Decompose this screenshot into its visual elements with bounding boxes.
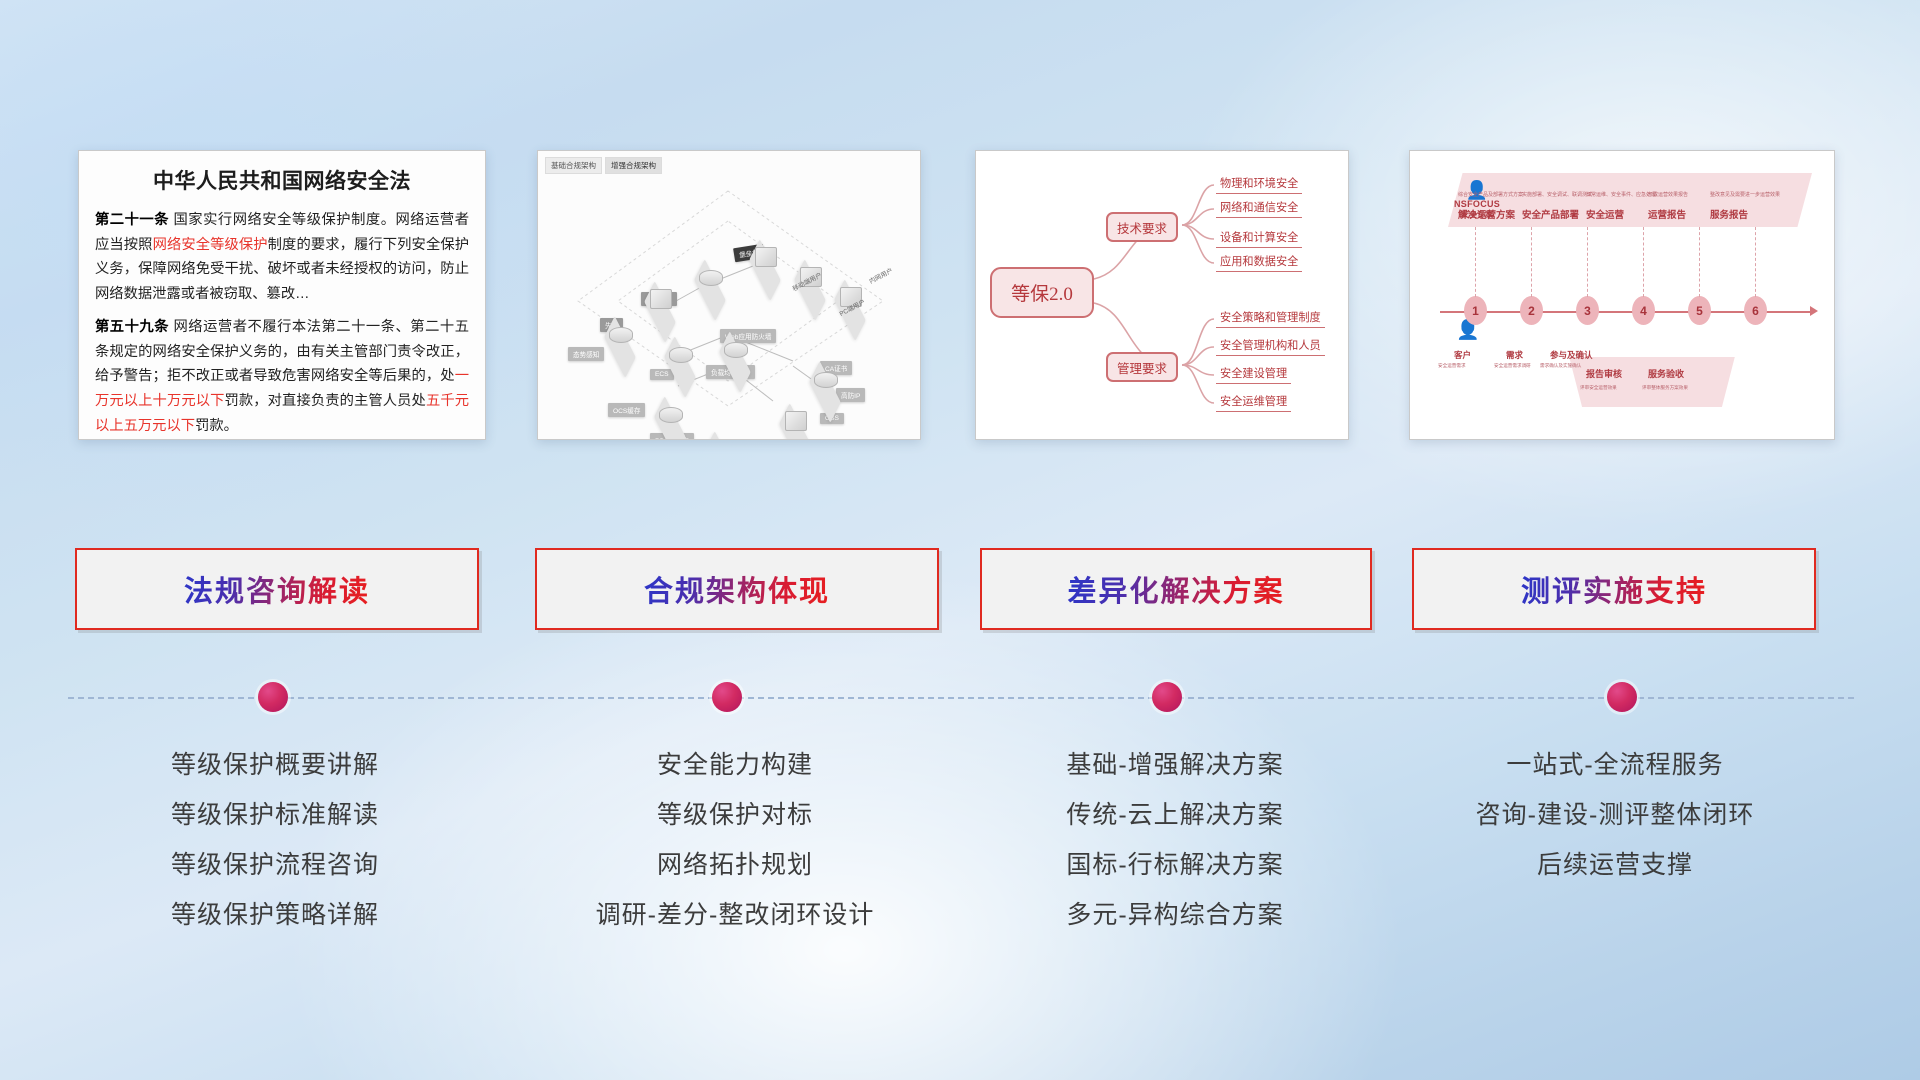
thumbnail-row: 中华人民共和国网络安全法 第二十一条 国家实行网络安全等级保护制度。网络运营者应… xyxy=(0,0,1920,450)
pillar-items-3: 一站式-全流程服务咨询-建设-测评整体闭环后续运营支撑 xyxy=(1400,740,1830,890)
architecture-chip: OCS缓存 xyxy=(608,403,645,417)
pillar-list-2: 基础-增强解决方案传统-云上解决方案国标-行标解决方案多元-异构综合方案 xyxy=(960,740,1390,940)
article-21-highlight: 网络安全等级保护 xyxy=(153,237,268,253)
pillar-heading-2[interactable]: 差异化解决方案 xyxy=(980,548,1372,630)
architecture-node-icon xyxy=(743,259,787,281)
timeline-top-sub: 日常运维、安全事件、应急处理 xyxy=(1586,191,1656,198)
mindmap-branch-node[interactable]: 技术要求 xyxy=(1106,212,1178,242)
timeline-dash-connector xyxy=(1475,227,1477,297)
divider-dot-1 xyxy=(712,682,742,712)
timeline-top-title: 服务报告 xyxy=(1710,207,1748,221)
timeline-step-node[interactable]: 4 xyxy=(1632,296,1655,325)
architecture-node-icon xyxy=(638,301,682,323)
pillar-items-0: 等级保护概要讲解等级保护标准解读等级保护流程咨询等级保护策略详解 xyxy=(60,740,490,940)
pillar-item: 等级保护概要讲解 xyxy=(60,740,490,790)
divider-dot-0 xyxy=(258,682,288,712)
mindmap-branch-node[interactable]: 管理要求 xyxy=(1106,352,1178,382)
pillar-heading-0[interactable]: 法规咨询解读 xyxy=(75,548,479,630)
pillar-item: 传统-云上解决方案 xyxy=(960,790,1390,840)
architecture-node-icon xyxy=(688,279,732,301)
pillar-list-1: 安全能力构建等级保护对标网络拓扑规划调研-差分-整改闭环设计 xyxy=(520,740,950,940)
pillar-item: 调研-差分-整改闭环设计 xyxy=(520,890,950,940)
pillar-item: 等级保护对标 xyxy=(520,790,950,840)
timeline-thumbnail-card[interactable]: 👤 NSFOCUS 安全专家 👤 客户 安全运营需求 需求 安全运营需求调研 参… xyxy=(1409,150,1835,440)
architecture-node-icon xyxy=(658,356,702,378)
pillar-item: 网络拓扑规划 xyxy=(520,840,950,890)
article-59-text-c: 罚款。 xyxy=(195,418,238,434)
article-59-label: 第五十九条 xyxy=(95,319,169,335)
mindmap-thumbnail-card[interactable]: 等保2.0 技术要求管理要求 物理和环境安全网络和通信安全设备和计算安全应用和数… xyxy=(975,150,1349,440)
mindmap-leaf-node[interactable]: 安全管理机构和人员 xyxy=(1216,337,1325,356)
timeline-arrow-icon xyxy=(1810,306,1818,316)
mid-title-0: 需求 xyxy=(1506,349,1523,361)
timeline-bottom-sub: 评审安全运营效果 xyxy=(1580,385,1617,391)
timeline-top-title: 安全运营 xyxy=(1586,207,1624,221)
customer-sub: 安全运营需求 xyxy=(1438,363,1466,369)
timeline-step-node[interactable]: 3 xyxy=(1576,296,1599,325)
timeline-top-sub: 实施部署、安全调试、联调测试 xyxy=(1522,191,1592,198)
pillar-item: 国标-行标解决方案 xyxy=(960,840,1390,890)
pillar-items-1: 安全能力构建等级保护对标网络拓扑规划调研-差分-整改闭环设计 xyxy=(520,740,950,940)
mindmap-leaf-node[interactable]: 应用和数据安全 xyxy=(1216,253,1302,272)
timeline-bottom-banner xyxy=(1560,357,1744,407)
pillar-item: 等级保护流程咨询 xyxy=(60,840,490,890)
law-thumbnail-card[interactable]: 中华人民共和国网络安全法 第二十一条 国家实行网络安全等级保护制度。网络运营者应… xyxy=(78,150,486,440)
service-timeline: 👤 NSFOCUS 安全专家 👤 客户 安全运营需求 需求 安全运营需求调研 参… xyxy=(1410,151,1834,439)
pillar-list-0: 等级保护概要讲解等级保护标准解读等级保护流程咨询等级保护策略详解 xyxy=(60,740,490,940)
pillar-item: 一站式-全流程服务 xyxy=(1400,740,1830,790)
timeline-dash-connector xyxy=(1587,227,1589,297)
pillar-items-2: 基础-增强解决方案传统-云上解决方案国标-行标解决方案多元-异构综合方案 xyxy=(960,740,1390,940)
architecture-diagram: 基础合规架构 增强合规架构 态势感知先知安全管家堡垒机ECS负载均衡SLBWeb… xyxy=(538,151,920,439)
divider-dot-3 xyxy=(1607,682,1637,712)
pillar-heading-text-3: 测评实施支持 xyxy=(1521,568,1707,610)
divider-dot-2 xyxy=(1152,682,1182,712)
article-21-label: 第二十一条 xyxy=(95,212,169,228)
timeline-top-sub: 综合安全产品及部署方式方案 xyxy=(1458,191,1523,198)
pillar-heading-3[interactable]: 测评实施支持 xyxy=(1412,548,1816,630)
mindmap-leaf-node[interactable]: 物理和环境安全 xyxy=(1216,175,1302,194)
timeline-top-title: 安全产品部署 xyxy=(1522,207,1579,221)
architecture-node-icon xyxy=(598,336,642,358)
law-article-59: 第五十九条 网络运营者不履行本法第二十一条、第二十五条规定的网络安全保护义务的，… xyxy=(95,315,469,438)
law-article-21: 第二十一条 国家实行网络安全等级保护制度。网络运营者应当按照网络安全等级保护制度… xyxy=(95,208,469,306)
pillar-heading-1[interactable]: 合规架构体现 xyxy=(535,548,939,630)
timeline-top-sub: 整改意见及需要进一步运营效果 xyxy=(1710,191,1780,198)
timeline-dash-connector xyxy=(1643,227,1645,297)
mindmap-leaf-node[interactable]: 安全运维管理 xyxy=(1216,393,1291,412)
pillar-item: 咨询-建设-测评整体闭环 xyxy=(1400,790,1830,840)
architecture-node-icon xyxy=(713,351,757,373)
pillar-list-3: 一站式-全流程服务咨询-建设-测评整体闭环后续运营支撑 xyxy=(1400,740,1830,890)
pillar-item: 等级保护策略详解 xyxy=(60,890,490,940)
architecture-thumbnail-card[interactable]: 基础合规架构 增强合规架构 态势感知先知安全管家堡垒机ECS负载均衡SLBWeb… xyxy=(537,150,921,440)
mindmap-leaf-node[interactable]: 设备和计算安全 xyxy=(1216,229,1302,248)
mindmap-root-node[interactable]: 等保2.0 xyxy=(990,267,1094,318)
pillar-item: 等级保护标准解读 xyxy=(60,790,490,840)
timeline-top-title: 运营报告 xyxy=(1648,207,1686,221)
customer-label: 客户 xyxy=(1454,349,1471,361)
timeline-top-title: 解决运营方案 xyxy=(1458,207,1515,221)
mid-sub-0: 安全运营需求调研 xyxy=(1494,363,1531,369)
pillar-item: 后续运营支撑 xyxy=(1400,840,1830,890)
pillar-heading-text-2: 差异化解决方案 xyxy=(1067,568,1284,610)
timeline-bottom-title: 服务验收 xyxy=(1648,367,1684,380)
mindmap-leaf-node[interactable]: 安全建设管理 xyxy=(1216,365,1291,384)
mid-title-1: 参与及确认 xyxy=(1550,349,1593,361)
architecture-node-icon xyxy=(803,381,847,403)
mid-sub-1: 需求确认及实施确认 xyxy=(1540,363,1581,369)
timeline-bottom-sub: 评审整体服务方案效果 xyxy=(1642,385,1688,391)
timeline-step-node[interactable]: 2 xyxy=(1520,296,1543,325)
architecture-node-icon xyxy=(648,416,692,438)
timeline-bottom-title: 报告审核 xyxy=(1586,367,1622,380)
timeline-dash-connector xyxy=(1699,227,1701,297)
timeline-step-node[interactable]: 5 xyxy=(1688,296,1711,325)
mindmap-leaf-node[interactable]: 网络和通信安全 xyxy=(1216,199,1302,218)
timeline-dash-connector xyxy=(1755,227,1757,297)
article-59-text-b: 罚款，对直接负责的主管人员处 xyxy=(225,393,426,409)
timeline-step-node[interactable]: 6 xyxy=(1744,296,1767,325)
pillar-item: 安全能力构建 xyxy=(520,740,950,790)
timeline-step-node[interactable]: 1 xyxy=(1464,296,1487,325)
timeline-divider xyxy=(68,697,1854,699)
timeline-top-sub: 形成运营效果报告 xyxy=(1648,191,1688,198)
mindmap-diagram: 等保2.0 技术要求管理要求 物理和环境安全网络和通信安全设备和计算安全应用和数… xyxy=(976,151,1348,439)
law-title: 中华人民共和国网络安全法 xyxy=(95,165,469,195)
architecture-node-icon xyxy=(773,423,817,440)
timeline-dash-connector xyxy=(1531,227,1533,297)
pillar-item: 基础-增强解决方案 xyxy=(960,740,1390,790)
law-content: 中华人民共和国网络安全法 第二十一条 国家实行网络安全等级保护制度。网络运营者应… xyxy=(79,151,485,439)
pillar-item: 多元-异构综合方案 xyxy=(960,890,1390,940)
mindmap-leaf-node[interactable]: 安全策略和管理制度 xyxy=(1216,309,1325,328)
pillar-heading-text-1: 合规架构体现 xyxy=(644,568,830,610)
pillar-heading-text-0: 法规咨询解读 xyxy=(184,568,370,610)
